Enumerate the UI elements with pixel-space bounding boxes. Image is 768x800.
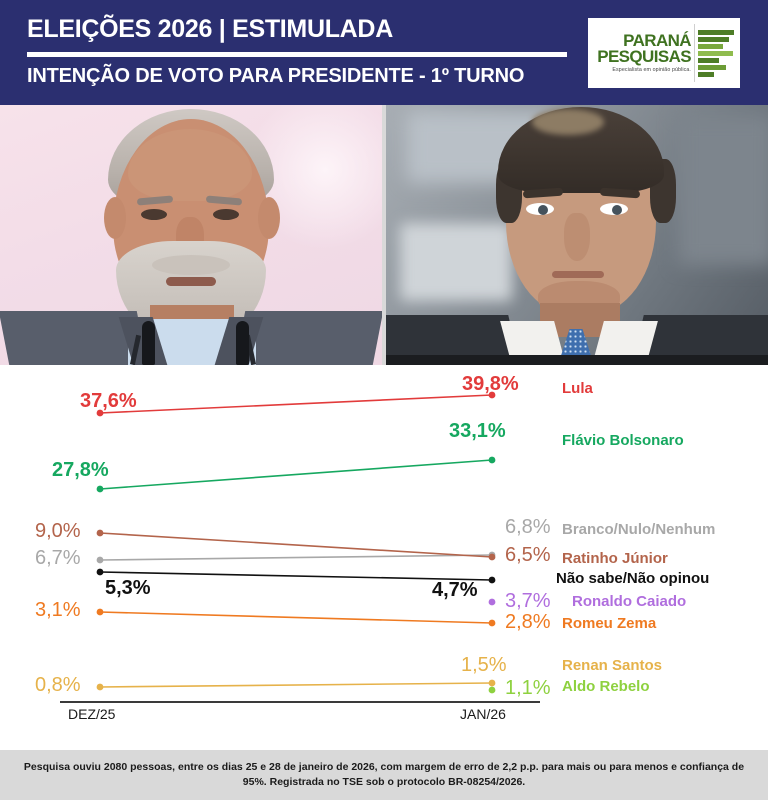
footer-note: Pesquisa ouviu 2080 pessoas, entre os di… xyxy=(0,750,768,800)
legend-item-fl-vio-bolsonaro[interactable]: Flávio Bolsonaro xyxy=(562,433,684,448)
legend-item-ronaldo-caiado[interactable]: Ronaldo Caiado xyxy=(572,594,686,609)
legend-item-n-o-sabe-n-o-opinou[interactable]: Não sabe/Não opinou xyxy=(556,571,709,586)
legend-item-branco-nulo-nenhum[interactable]: Branco/Nulo/Nenhum xyxy=(562,522,715,537)
value-label-end: 1,1% xyxy=(505,678,551,698)
value-label-end: 3,7% xyxy=(505,591,551,611)
value-label-end: 33,1% xyxy=(449,421,506,441)
poll-infographic: ELEIÇÕES 2026 | ESTIMULADA INTENÇÃO DE V… xyxy=(0,0,768,800)
axis-tick-dez25: DEZ/25 xyxy=(68,706,115,722)
series-line xyxy=(100,395,492,413)
series-point xyxy=(97,530,104,537)
logo-bars-icon xyxy=(694,24,734,82)
series-line xyxy=(100,612,492,623)
series-point xyxy=(97,557,104,564)
logo-wordmark: PARANÁ PESQUISAS Especialista em opinião… xyxy=(594,33,694,74)
legend-item-ratinho-j-nior[interactable]: Ratinho Júnior xyxy=(562,551,668,566)
series-point xyxy=(97,609,104,616)
value-label-start: 3,1% xyxy=(35,600,81,620)
logo-tagline: Especialista em opinião pública. xyxy=(594,67,691,73)
series-point xyxy=(97,569,104,576)
series-point xyxy=(489,457,496,464)
series-point xyxy=(489,680,496,687)
value-label-start: 5,3% xyxy=(105,578,151,598)
value-label-start: 27,8% xyxy=(52,460,109,480)
series-line xyxy=(100,533,492,557)
series-line xyxy=(100,460,492,489)
series-point xyxy=(97,486,104,493)
photo-flavio-bolsonaro xyxy=(386,105,768,365)
legend-item-aldo-rebelo[interactable]: Aldo Rebelo xyxy=(562,679,650,694)
series-point xyxy=(489,577,496,584)
series-line xyxy=(100,555,492,560)
series-point xyxy=(97,684,104,691)
value-label-end: 6,5% xyxy=(505,545,551,565)
series-line xyxy=(100,683,492,687)
footer-text: Pesquisa ouviu 2080 pessoas, entre os di… xyxy=(0,760,768,790)
value-label-start: 37,6% xyxy=(80,391,137,411)
logo-line-2: PESQUISAS xyxy=(594,49,691,65)
photo-lula xyxy=(0,105,382,365)
legend-item-lula[interactable]: Lula xyxy=(562,381,593,396)
value-label-start: 0,8% xyxy=(35,675,81,695)
series-point xyxy=(489,687,496,694)
legend-item-romeu-zema[interactable]: Romeu Zema xyxy=(562,616,656,631)
value-label-end: 1,5% xyxy=(461,655,507,675)
header-divider xyxy=(27,52,567,57)
value-label-end: 6,8% xyxy=(505,517,551,537)
page-subtitle: INTENÇÃO DE VOTO PARA PRESIDENTE - 1º TU… xyxy=(27,65,524,88)
candidate-photos xyxy=(0,105,768,365)
value-label-end: 4,7% xyxy=(432,580,478,600)
header-bar: ELEIÇÕES 2026 | ESTIMULADA INTENÇÃO DE V… xyxy=(0,0,768,105)
series-point xyxy=(489,599,496,606)
value-label-start: 9,0% xyxy=(35,521,81,541)
series-point xyxy=(489,554,496,561)
poll-trend-chart: 37,6%39,8%27,8%33,1%6,7%6,8%9,0%6,5%5,3%… xyxy=(0,365,768,750)
value-label-end: 2,8% xyxy=(505,612,551,632)
value-label-start: 6,7% xyxy=(35,548,81,568)
page-title: ELEIÇÕES 2026 | ESTIMULADA xyxy=(27,15,393,44)
series-point xyxy=(489,620,496,627)
value-label-end: 39,8% xyxy=(462,374,519,394)
axis-tick-jan26: JAN/26 xyxy=(460,706,506,722)
parana-pesquisas-logo: PARANÁ PESQUISAS Especialista em opinião… xyxy=(588,18,740,88)
legend-item-renan-santos[interactable]: Renan Santos xyxy=(562,658,662,673)
